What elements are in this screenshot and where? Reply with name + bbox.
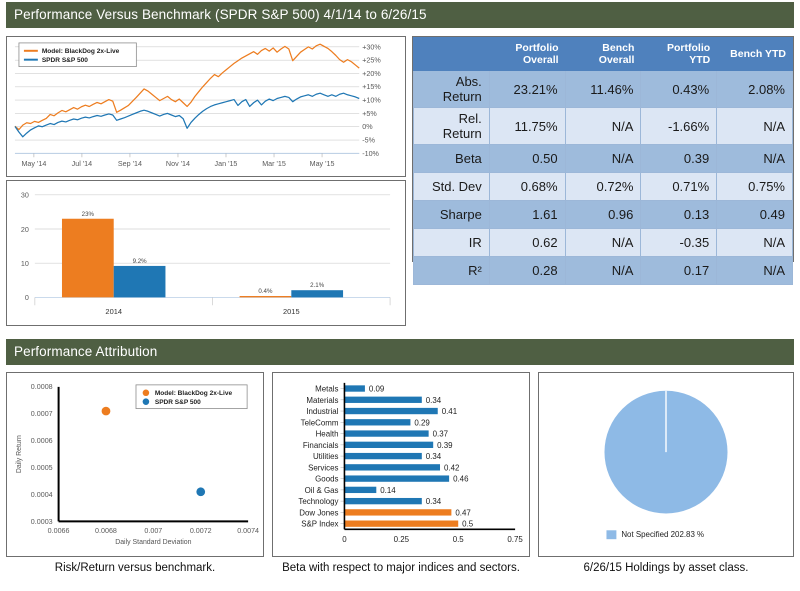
x-tick-label: 0.0074 [237, 527, 259, 535]
y-tick-label: 0.0006 [31, 437, 53, 445]
bar [344, 442, 433, 448]
scatter-caption: Risk/Return versus benchmark. [6, 562, 264, 574]
x-axis-title: Daily Standard Deviation [115, 539, 191, 546]
x-tick-label: 0.0066 [48, 527, 70, 535]
legend-label: Not Specified 202.83 % [621, 530, 704, 539]
bar [344, 464, 440, 470]
report-page: Performance Versus Benchmark (SPDR S&P 5… [0, 0, 800, 591]
bar [62, 219, 114, 298]
performance-section-header: Performance Versus Benchmark (SPDR S&P 5… [6, 2, 794, 28]
category-label: 2015 [283, 307, 300, 316]
row-label: Beta [414, 145, 490, 173]
category-label: Utilities [313, 452, 339, 461]
category-label: Metals [315, 385, 338, 394]
category-label: Financials [303, 441, 339, 450]
table-cell: 23.21% [489, 71, 565, 108]
y-tick-label: 0 [25, 294, 29, 302]
x-tick-label: 0.75 [507, 535, 523, 544]
table-row: Beta0.50N/A0.39N/A [414, 145, 793, 173]
table-row: Sharpe1.610.960.130.49 [414, 201, 793, 229]
table-cell: 2.08% [717, 71, 793, 108]
category-label: S&P Index [301, 520, 338, 529]
category-label: 2014 [105, 307, 122, 316]
column-header-bench-ytd: Bench YTD [717, 38, 793, 71]
y-tick-label: +20% [362, 70, 381, 78]
statistics-table: Portfolio Overall Bench Overall Portfoli… [413, 37, 793, 285]
category-label: Health [316, 430, 339, 439]
bar-value-label: 0.46 [453, 475, 469, 484]
x-tick-label: 0.007 [144, 527, 162, 535]
x-tick-label: Nov '14 [166, 160, 190, 168]
table-cell: 0.68% [489, 173, 565, 201]
table-cell: -1.66% [641, 108, 717, 145]
attribution-section-header: Performance Attribution [6, 339, 794, 365]
row-label: R² [414, 257, 490, 285]
table-cell: 0.72% [565, 173, 641, 201]
bar-value-label: 0.39 [437, 441, 453, 450]
y-tick-label: -10% [362, 150, 379, 158]
legend-label: SPDR S&P 500 [42, 57, 88, 64]
category-label: Goods [315, 475, 338, 484]
table-cell: 0.75% [717, 173, 793, 201]
table-cell: N/A [717, 145, 793, 173]
pie-slices [604, 391, 727, 514]
x-tick-label: May '15 [310, 160, 335, 168]
table-row: Abs. Return23.21%11.46%0.43%2.08% [414, 71, 793, 108]
x-tick-label: Jul '14 [72, 160, 93, 168]
legend-label: Model: BlackDog 2x-Live [42, 48, 120, 55]
table-row: Std. Dev0.68%0.72%0.71%0.75% [414, 173, 793, 201]
bar [344, 520, 458, 526]
statistics-table-panel: Portfolio Overall Bench Overall Portfoli… [412, 36, 794, 262]
bar [344, 397, 421, 403]
y-tick-label: +10% [362, 97, 381, 105]
chart-legend: Not Specified 202.83 % [606, 530, 704, 539]
bar [344, 385, 364, 391]
y-axis-title: Daily Return [16, 435, 23, 473]
table-row: IR0.62N/A-0.35N/A [414, 229, 793, 257]
y-tick-label: 0.0007 [31, 410, 53, 418]
bar [344, 498, 421, 504]
y-tick-label: 0.0005 [31, 464, 53, 472]
table-cell: N/A [717, 229, 793, 257]
chart-legend: Model: BlackDog 2x-LiveSPDR S&P 500 [136, 385, 247, 409]
bar-value-label: 0.47 [455, 508, 470, 517]
table-cell: -0.35 [641, 229, 717, 257]
risk-return-scatter-svg: 0.00030.00040.00050.00060.00070.00080.00… [7, 373, 263, 556]
table-body: Abs. Return23.21%11.46%0.43%2.08%Rel. Re… [414, 71, 793, 285]
bar [344, 487, 376, 493]
x-tick-label: May '14 [21, 160, 46, 168]
chart-legend: Model: BlackDog 2x-LiveSPDR S&P 500 [19, 43, 136, 67]
x-tick-label: Sep '14 [118, 160, 142, 168]
bar-value-label: 0.34 [426, 396, 442, 405]
y-tick-label: +5% [362, 110, 377, 118]
y-tick-label: 10 [21, 260, 29, 268]
column-header-portfolio-overall: Portfolio Overall [489, 38, 565, 71]
category-label: Oil & Gas [305, 486, 339, 495]
table-cell: N/A [717, 257, 793, 285]
table-cell: 0.50 [489, 145, 565, 173]
bar [344, 419, 410, 425]
y-tick-label: 0.0004 [31, 491, 53, 499]
y-tick-label: 0.0003 [31, 518, 53, 526]
table-cell: N/A [565, 257, 641, 285]
x-tick-label: Mar '15 [262, 160, 286, 168]
x-tick-label: 0.5 [453, 535, 465, 544]
table-row: R²0.28N/A0.17N/A [414, 257, 793, 285]
table-row: Rel. Return11.75%N/A-1.66%N/A [414, 108, 793, 145]
x-tick-label: 0.25 [394, 535, 410, 544]
risk-return-scatter-chart: 0.00030.00040.00050.00060.00070.00080.00… [6, 372, 264, 557]
bar-value-label: 0.34 [426, 452, 442, 461]
y-tick-label: 0% [362, 123, 373, 131]
y-tick-label: +25% [362, 57, 381, 65]
table-header-row: Portfolio Overall Bench Overall Portfoli… [414, 38, 793, 71]
bar [344, 408, 437, 414]
y-tick-label: 30 [21, 192, 29, 200]
bar [240, 296, 292, 297]
x-tick-label: 0 [342, 535, 347, 544]
row-label: IR [414, 229, 490, 257]
annual-returns-chart: 0102030 23%9.2%0.4%2.1% 20142015 [6, 180, 406, 326]
row-label: Abs. Return [414, 71, 490, 108]
y-tick-label: +30% [362, 43, 381, 51]
bar [344, 475, 449, 481]
scatter-point [102, 407, 111, 416]
annual-returns-svg: 0102030 23%9.2%0.4%2.1% 20142015 [7, 181, 405, 325]
category-label: Industrial [306, 407, 338, 416]
bar-value-label: 0.4% [258, 288, 273, 295]
table-cell: 11.46% [565, 71, 641, 108]
bar-value-label: 23% [82, 211, 95, 218]
column-header-portfolio-ytd: Portfolio YTD [641, 38, 717, 71]
table-cell: 0.62 [489, 229, 565, 257]
bar-value-label: 0.41 [442, 407, 458, 416]
table-cell: 0.17 [641, 257, 717, 285]
bar [344, 430, 428, 436]
beta-caption: Beta with respect to major indices and s… [272, 562, 530, 574]
category-label: Materials [306, 396, 338, 405]
table-cell: 0.96 [565, 201, 641, 229]
bar [114, 266, 166, 297]
bar-value-label: 0.5 [462, 520, 474, 529]
y-tick-label: 0.0008 [31, 383, 53, 391]
bar [344, 509, 451, 515]
table-cell: N/A [717, 108, 793, 145]
category-label: Dow Jones [299, 508, 338, 517]
table-cell: 0.49 [717, 201, 793, 229]
bar-value-label: 2.1% [310, 282, 325, 289]
holdings-pie-svg: Not Specified 202.83 % [539, 373, 793, 556]
category-label: Technology [298, 497, 338, 506]
table-cell: 0.43% [641, 71, 717, 108]
beta-bar-svg: MetalsMaterialsIndustrialTeleCommHealthF… [273, 373, 529, 556]
y-tick-label: 20 [21, 226, 29, 234]
table-cell: 0.13 [641, 201, 717, 229]
bar-value-label: 0.34 [426, 497, 442, 506]
table-cell: 1.61 [489, 201, 565, 229]
table-cell: 11.75% [489, 108, 565, 145]
bar [344, 453, 421, 459]
table-cell: 0.28 [489, 257, 565, 285]
bar-value-label: 0.29 [414, 418, 430, 427]
bar-value-label: 0.14 [380, 486, 396, 495]
table-cell: N/A [565, 145, 641, 173]
table-cell: N/A [565, 108, 641, 145]
row-label: Rel. Return [414, 108, 490, 145]
y-tick-label: -5% [362, 137, 375, 145]
cumulative-performance-svg: +30%+25%+20%+15%+10%+5%0%-5%-10% May '14… [7, 37, 405, 176]
legend-label: Model: BlackDog 2x-Live [155, 390, 233, 397]
category-label: Services [308, 463, 338, 472]
legend-label: SPDR S&P 500 [155, 399, 201, 406]
x-tick-label: 0.0072 [190, 527, 212, 535]
bar-value-label: 0.37 [433, 430, 448, 439]
row-label: Std. Dev [414, 173, 490, 201]
table-corner-cell [414, 38, 490, 71]
category-label: TeleComm [301, 418, 339, 427]
column-header-bench-overall: Bench Overall [565, 38, 641, 71]
y-tick-label: +15% [362, 83, 381, 91]
table-cell: 0.39 [641, 145, 717, 173]
bar-value-label: 0.42 [444, 463, 459, 472]
x-tick-label: Jan '15 [215, 160, 238, 168]
beta-bar-chart: MetalsMaterialsIndustrialTeleCommHealthF… [272, 372, 530, 557]
pie-caption: 6/26/15 Holdings by asset class. [538, 562, 794, 574]
holdings-pie-chart: Not Specified 202.83 % [538, 372, 794, 557]
cumulative-performance-chart: +30%+25%+20%+15%+10%+5%0%-5%-10% May '14… [6, 36, 406, 177]
scatter-point [196, 487, 205, 496]
table-cell: 0.71% [641, 173, 717, 201]
x-tick-label: 0.0068 [95, 527, 117, 535]
row-label: Sharpe [414, 201, 490, 229]
bar [291, 290, 343, 297]
bar-value-label: 0.09 [369, 385, 385, 394]
bar-value-label: 9.2% [133, 258, 148, 265]
table-cell: N/A [565, 229, 641, 257]
